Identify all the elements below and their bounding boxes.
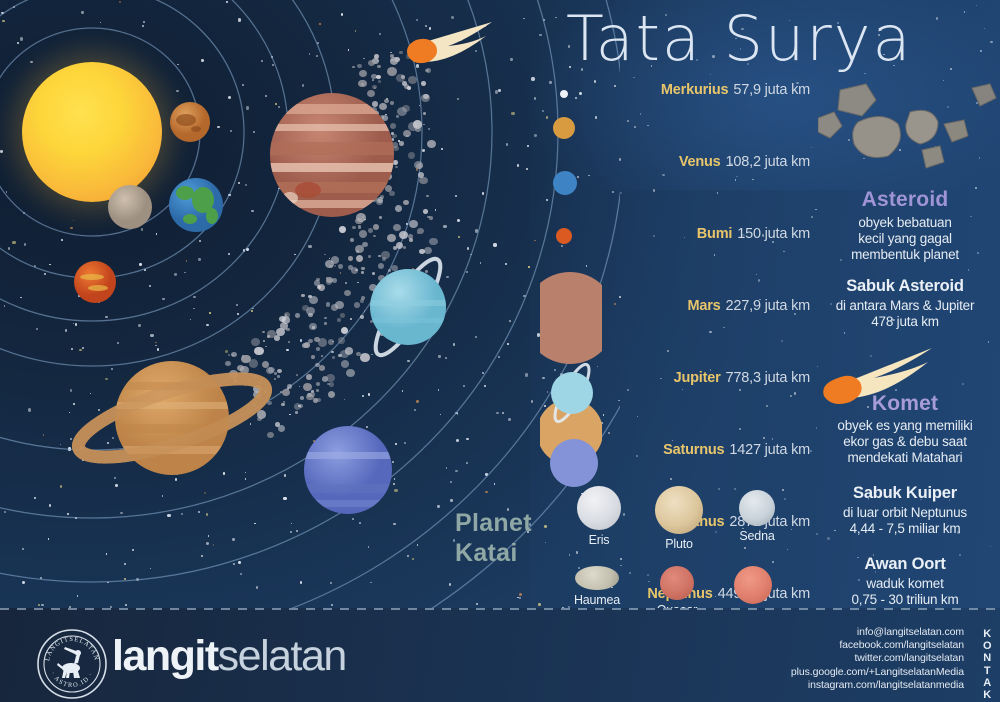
star: [633, 77, 635, 79]
asteroid-belt-heading: Sabuk Asteroid: [812, 277, 998, 296]
dwarf-planet-item: Eris: [560, 486, 638, 547]
dwarf-planet-item: Haumea: [558, 566, 636, 607]
planet-mars: [74, 261, 116, 303]
oort-desc-line-1: waduk komet: [812, 576, 998, 592]
dwarf-planet-label: Eris: [560, 533, 638, 547]
dwarf-planet-icon: [739, 490, 775, 526]
page-title: Tata Surya: [566, 2, 912, 75]
star: [936, 17, 939, 20]
planet-row: Merkurius57,9 juta km: [600, 82, 810, 154]
belt-desc-line-1: di antara Mars & Jupiter: [812, 298, 998, 314]
comet-illustration: [407, 22, 492, 63]
planet-row: Bumi150 juta km: [600, 226, 810, 298]
kuiper-belt-heading: Sabuk Kuiper: [812, 484, 998, 503]
planet-saturn: [71, 361, 273, 475]
planet-jupiter: [268, 93, 398, 217]
kuiper-desc-line-1: di luar orbit Neptunus: [812, 505, 998, 521]
star: [950, 68, 952, 70]
oort-cloud-heading: Awan Oort: [812, 555, 998, 574]
kontak-letter: K: [983, 689, 992, 701]
oort-desc-line-2: 0,75 - 30 triliun km: [812, 592, 998, 608]
dwarf-planet-icon: [577, 486, 621, 530]
planet-distance: 57,9 juta km: [733, 82, 810, 98]
scale-earth: [553, 171, 577, 195]
asteroid-heading: Asteroid: [812, 188, 998, 212]
footer-divider: [0, 608, 1000, 610]
planet-name: Jupiter: [674, 370, 721, 386]
planet-distance: 227,9 juta km: [726, 298, 810, 314]
star: [984, 28, 986, 30]
contact-line[interactable]: info@langitselatan.com: [791, 626, 964, 639]
asteroid-desc-line-2: kecil yang gagal: [812, 231, 998, 247]
scale-mercury: [560, 90, 568, 98]
planet-name: Merkurius: [661, 82, 729, 98]
planet-mercury: [108, 185, 152, 229]
star: [980, 50, 983, 53]
star: [976, 5, 978, 7]
planet-venus: [170, 102, 210, 142]
planet-distance: 778,3 juta km: [726, 370, 810, 386]
planet-distance: 150 juta km: [737, 226, 810, 242]
planet-row: Venus108,2 juta km: [600, 154, 810, 226]
dwarf-planet-icon: [575, 566, 619, 590]
planet-name: Mars: [687, 298, 720, 314]
langitselatan-logo-icon: LANGITSELATAN · ASTRO.ID ·: [36, 628, 108, 700]
brand-light: selatan: [218, 632, 346, 680]
solar-system-infographic: Tata Surya Merkurius57,9 juta kmVenus108…: [0, 0, 1000, 702]
planet-neptune: [304, 426, 394, 514]
kontak-letter: O: [983, 640, 992, 652]
contact-line[interactable]: plus.google.com/+LangitselatanMedia: [791, 666, 964, 679]
scale-venus: [553, 117, 575, 139]
brand-wordmark: langitselatan: [112, 632, 346, 681]
asteroid-desc-line-3: membentuk planet: [812, 247, 998, 263]
komet-desc-line-2: ekor gas & debu saat: [812, 434, 998, 450]
dwarf-planets-heading: Planet Katai: [455, 508, 532, 568]
kontak-letter: T: [983, 665, 992, 677]
dwarf-heading-line-2: Katai: [455, 538, 532, 568]
planet-name: Bumi: [697, 226, 732, 242]
svg-text:LANGITSELATAN: LANGITSELATAN: [44, 636, 100, 662]
komet-desc-line-1: obyek es yang memiliki: [812, 418, 998, 434]
planet-distance: 108,2 juta km: [726, 154, 810, 170]
contact-line[interactable]: twitter.com/langitselatan: [791, 652, 964, 665]
brand-bold: langit: [112, 632, 218, 680]
komet-heading: Komet: [812, 392, 998, 416]
footer: LANGITSELATAN · ASTRO.ID · langitselatan…: [0, 608, 1000, 702]
asteroid-desc-line-1: obyek bebatuan: [812, 215, 998, 231]
contact-line[interactable]: facebook.com/langitselatan: [791, 639, 964, 652]
dwarf-planet-label: Pluto: [640, 537, 718, 551]
planet-distance: 1427 juta km: [729, 442, 810, 458]
scale-jupiter: [540, 272, 602, 364]
dwarf-planet-icon: [655, 486, 703, 534]
planet-row: Mars227,9 juta km: [600, 298, 810, 370]
info-column: Asteroid obyek bebatuan kecil yang gagal…: [812, 88, 998, 608]
dwarf-planet-item: Pluto: [640, 486, 718, 551]
kontak-letter: A: [983, 677, 992, 689]
planet-uranus: [366, 252, 451, 363]
planet-name: Venus: [679, 154, 721, 170]
komet-desc-line-3: mendekati Matahari: [812, 450, 998, 466]
contact-list: info@langitselatan.comfacebook.com/langi…: [791, 626, 964, 692]
kontak-letter: N: [983, 652, 992, 664]
scale-mars: [556, 228, 572, 244]
logo-top-text: LANGITSELATAN: [44, 636, 100, 662]
belt-desc-line-2: 478 juta km: [812, 314, 998, 330]
planet-earth: [169, 178, 223, 232]
kontak-letter: K: [983, 628, 992, 640]
logo-centaur-figure: [57, 647, 81, 678]
kontak-label: KONTAK: [983, 628, 992, 701]
dwarf-planet-label: Sedna: [718, 529, 796, 543]
dwarf-planet-item: Sedna: [718, 490, 796, 543]
dwarf-planet-label: Haumea: [558, 593, 636, 607]
planet-name: Saturnus: [663, 442, 724, 458]
dwarf-heading-line-1: Planet: [455, 508, 532, 538]
dwarf-planet-icon: [734, 566, 772, 604]
star: [990, 41, 993, 44]
contact-line[interactable]: instagram.com/langitselatanmedia: [791, 679, 964, 692]
dwarf-planet-icon: [660, 566, 694, 600]
planet-row: Jupiter778,3 juta km: [600, 370, 810, 442]
kuiper-desc-line-2: 4,44 - 7,5 miliar km: [812, 521, 998, 537]
star: [964, 11, 966, 13]
scale-uranus-group: [538, 358, 608, 428]
